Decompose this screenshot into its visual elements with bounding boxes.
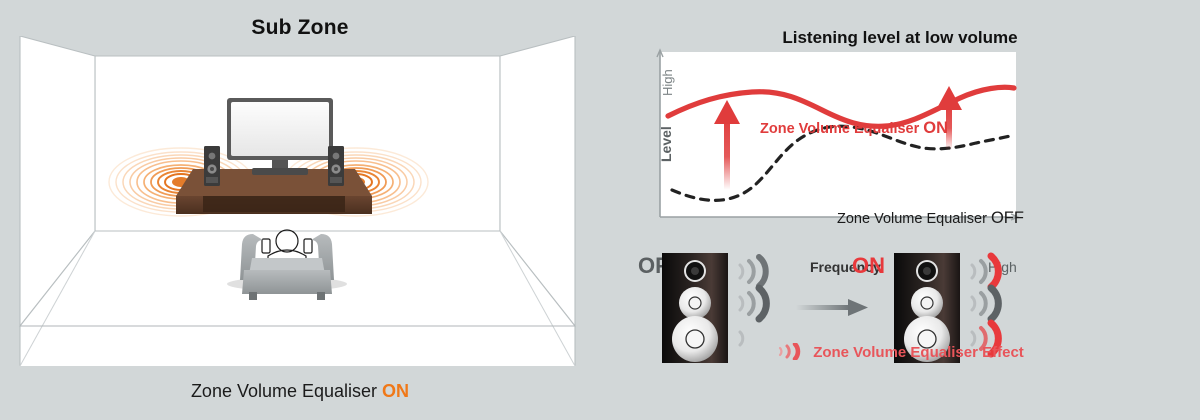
room-diagram-panel: Sub Zone: [0, 0, 600, 420]
series-on-label: Zone Volume Equaliser ON: [760, 119, 948, 138]
right-arrow-icon: [796, 299, 868, 316]
sound-wave-icon-on-tweeter: [972, 256, 998, 287]
right-speaker-icon: [328, 146, 344, 186]
sound-wave-icon-on-mid: [972, 288, 998, 319]
level-frequency-chart: High Level Zone Volume Equaliser ON Zone…: [630, 44, 1050, 249]
y-axis-tick-high: High: [660, 69, 675, 96]
series-on-label-prefix: Zone Volume Equaliser: [760, 121, 923, 137]
room-box-icon: [0, 36, 600, 366]
infographic-stage: Sub Zone: [0, 0, 1200, 420]
speaker-comparison: OFF ON: [600, 245, 1200, 375]
series-on-label-state: ON: [923, 119, 948, 137]
sound-wave-icon-off-tweeter: [740, 257, 766, 286]
series-off-label-state: OFF: [991, 209, 1024, 227]
chart-and-comparison-panel: Listening level at low volume: [600, 0, 1200, 420]
series-off-label-prefix: Zone Volume Equaliser: [837, 211, 991, 227]
room-caption-prefix: Zone Volume Equaliser: [191, 381, 382, 401]
legend: Zone Volume Equaliser Effect: [600, 343, 1200, 361]
sound-wave-icon: [776, 343, 806, 360]
legend-label: Zone Volume Equaliser Effect: [813, 344, 1024, 361]
sound-wave-icon-off-mid: [740, 288, 766, 319]
y-axis-label: Level: [658, 126, 674, 162]
left-speaker-icon: [204, 146, 220, 186]
room-caption: Zone Volume Equaliser ON: [0, 381, 600, 402]
room-caption-state: ON: [382, 381, 409, 401]
series-off-label: Zone Volume Equaliser OFF: [837, 209, 1024, 228]
